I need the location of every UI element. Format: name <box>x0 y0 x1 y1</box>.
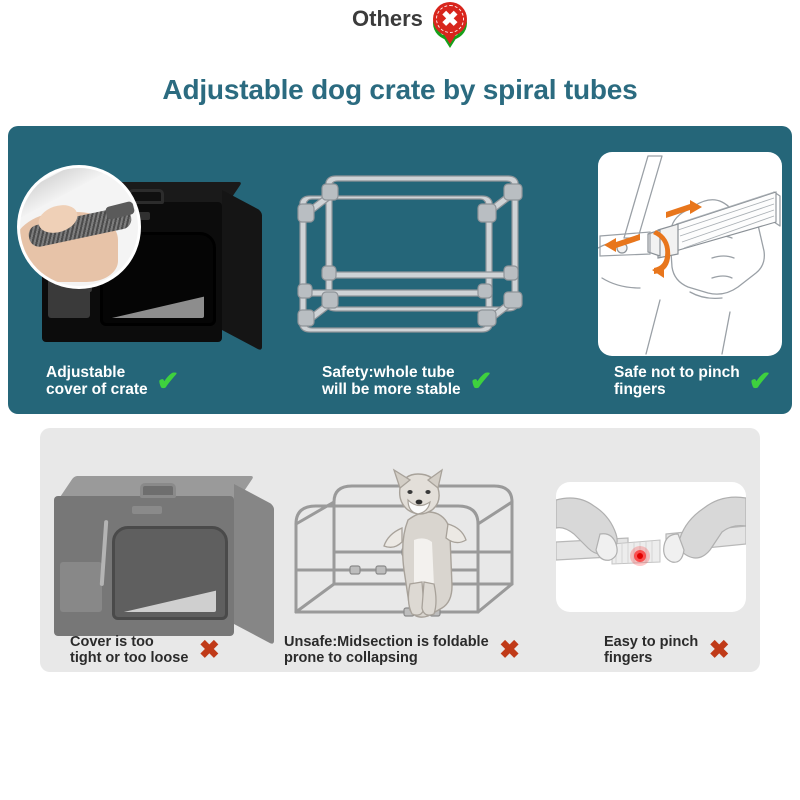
check-icon: ✔ <box>157 370 183 392</box>
cross-icon: ✖ <box>197 639 221 661</box>
page-title: Adjustable dog crate by spiral tubes <box>0 74 800 106</box>
others-label: Others <box>352 6 423 32</box>
crate-brand-tag <box>132 506 162 514</box>
twist-lineart-svg <box>598 152 782 356</box>
check-icon: ✔ <box>749 370 775 392</box>
hands-twisting-tube-lineart <box>598 152 782 356</box>
crate-illustration <box>54 476 276 644</box>
caption-easy-pinch: Easy to pinch fingers ✖ <box>604 634 731 666</box>
caption-safe-no-pinch: Safe not to pinch fingers ✔ <box>614 364 775 399</box>
dog-illustration <box>384 470 466 617</box>
crate-carry-handle <box>140 483 176 498</box>
whole-tube-frame-illustration <box>296 168 582 358</box>
gray-loose-crate-photo <box>32 462 282 622</box>
crate-mesh-vent <box>60 562 102 612</box>
check-icon: ✔ <box>470 370 496 392</box>
black-dog-crate-photo <box>20 168 288 358</box>
hand-holding-spiral-tube-photo <box>20 168 138 286</box>
caption-text: Easy to pinch fingers <box>604 634 698 666</box>
caption-adjustable-cover: Adjustable cover of crate ✔ <box>46 364 183 399</box>
crate-side-panel <box>234 484 274 645</box>
caption-cover-fit-issue: Cover is too tight or too loose ✖ <box>70 634 221 666</box>
foldable-frame-svg <box>282 466 572 626</box>
pinch-lineart-svg <box>556 482 746 612</box>
cross-glyph: ✖ <box>441 9 459 30</box>
cross-icon: ✖ <box>498 639 522 661</box>
cross-icon: ✖ <box>707 639 731 661</box>
foldable-frame-with-dog-illustration <box>282 466 572 626</box>
caption-text: Adjustable cover of crate <box>46 364 148 399</box>
crate-side-panel <box>222 190 262 351</box>
caption-text: Safe not to pinch fingers <box>614 364 740 399</box>
tube-frame-svg <box>296 168 582 358</box>
pinch-point-indicator <box>630 546 650 566</box>
crate-carry-handle <box>128 189 164 204</box>
caption-text: Safety:whole tube will be more stable <box>322 364 461 399</box>
caption-whole-tube-safety: Safety:whole tube will be more stable ✔ <box>322 364 496 399</box>
caption-text: Cover is too tight or too loose <box>70 634 188 666</box>
caption-midsection-unsafe: Unsafe:Midsection is foldable prone to c… <box>284 634 522 666</box>
others-section-header: Others ✖ <box>352 2 467 36</box>
caption-text: Unsafe:Midsection is foldable prone to c… <box>284 634 489 666</box>
cross-badge-icon: ✖ <box>433 2 467 36</box>
hands-pinching-tube-lineart <box>556 482 746 612</box>
